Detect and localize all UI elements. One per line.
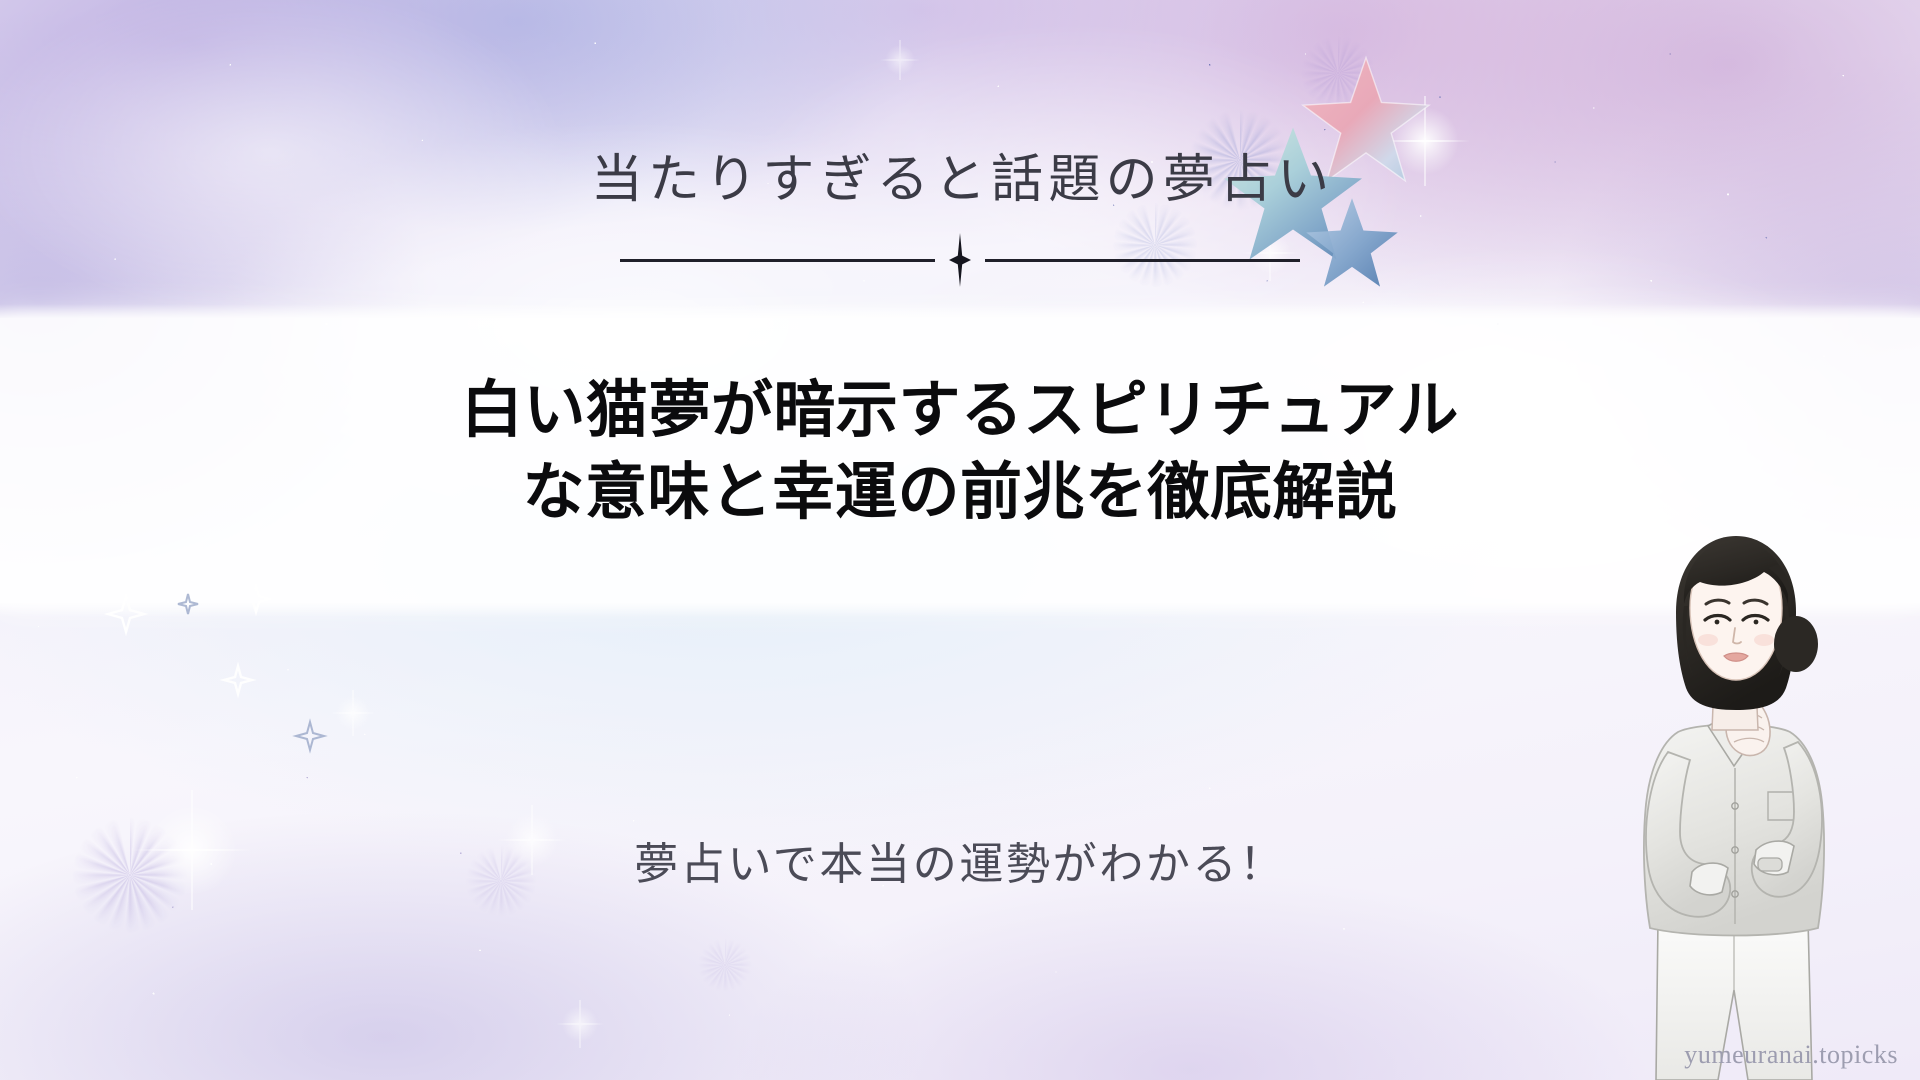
woman-portrait-illustration-icon (1572, 520, 1902, 1080)
crescent-moon-cloud-illustration-icon (42, 490, 372, 820)
star-burst-icon-6 (690, 930, 760, 1000)
page-title-line-1: 白い猫夢が暗示するスピリチュアル (461, 376, 1459, 445)
four-point-diamond-icon (949, 233, 971, 287)
divider-bar-right (985, 259, 1300, 262)
eyecatch-banner: 当たりすぎると話題の夢占い 白い猫夢が暗示するスピリチュアル な意味と幸運の前兆… (0, 0, 1920, 1080)
site-watermark: yumeuranai.topicks (1684, 1040, 1898, 1070)
kicker-text: 当たりすぎると話題の夢占い (586, 148, 1335, 213)
page-title-line-2: な意味と幸運の前兆を徹底解説 (300, 452, 1620, 534)
divider-rule (620, 233, 1300, 287)
divider-bar-left (620, 259, 935, 262)
kicker-block: 当たりすぎると話題の夢占い (0, 148, 1920, 287)
page-title: 白い猫夢が暗示するスピリチュアル な意味と幸運の前兆を徹底解説 (0, 370, 1920, 534)
sparkle-icon-7 (880, 40, 920, 80)
sparkle-icon-5 (556, 1000, 604, 1048)
